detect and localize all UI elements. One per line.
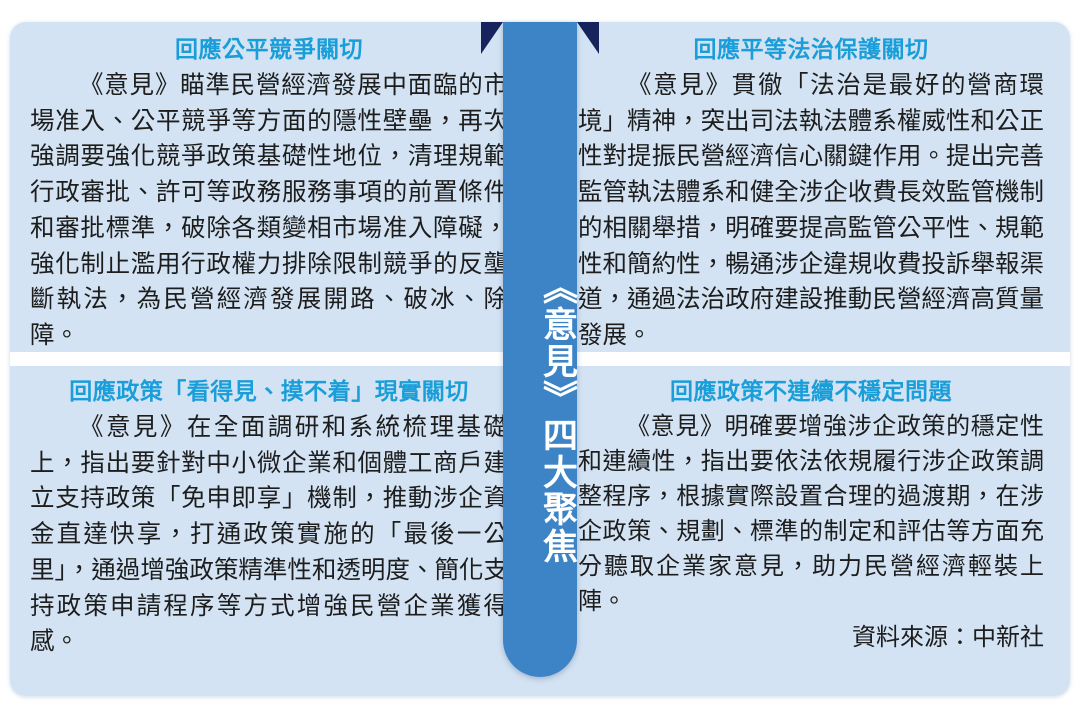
panel-top-left-heading: 回應公平競爭關切 xyxy=(30,36,508,65)
panel-bottom-right-heading: 回應政策不連續不穩定問題 xyxy=(578,378,1044,407)
ribbon-tail-left-icon xyxy=(481,22,503,54)
panel-bottom-right-content: 回應政策不連續不穩定問題 《意見》明確要增強涉企政策的穩定性和連續性，指出要依法… xyxy=(578,378,1044,655)
panel-top-right-heading: 回應平等法治保護關切 xyxy=(578,36,1044,65)
panel-top-left-content: 回應公平競爭關切 《意見》瞄準民營經濟發展中面臨的市場准入、公平競爭等方面的隱性… xyxy=(30,36,508,352)
panel-top-right-content: 回應平等法治保護關切 《意見》貫徹「法治是最好的營商環境」精神，突出司法執法體系… xyxy=(578,36,1044,352)
infographic-root: 回應公平競爭關切 《意見》瞄準民營經濟發展中面臨的市場准入、公平競爭等方面的隱性… xyxy=(0,0,1080,711)
center-ribbon: 《意見》四大聚焦 xyxy=(503,22,577,677)
panel-bottom-right-body: 《意見》明確要增強涉企政策的穩定性和連續性，指出要依法依規履行涉企政策調整程序，… xyxy=(578,409,1044,619)
panel-top-left-body: 《意見》瞄準民營經濟發展中面臨的市場准入、公平競爭等方面的隱性壁壘，再次強調要強… xyxy=(30,67,508,352)
panel-bottom-left-body: 《意見》在全面調研和系統梳理基礎上，指出要針對中小微企業和個體工商戶建立支持政策… xyxy=(30,409,508,659)
source-attribution: 資料來源：中新社 xyxy=(578,621,1044,655)
panel-top-right: 回應平等法治保護關切 《意見》貫徹「法治是最好的營商環境」精神，突出司法執法體系… xyxy=(510,22,1070,352)
panel-top-left: 回應公平競爭關切 《意見》瞄準民營經濟發展中面臨的市場准入、公平競爭等方面的隱性… xyxy=(10,22,570,352)
panel-top-right-body: 《意見》貫徹「法治是最好的營商環境」精神，突出司法執法體系權威性和公正性對提振民… xyxy=(578,67,1044,352)
panel-bottom-left: 回應政策「看得見、摸不着」現實關切 《意見》在全面調研和系統梳理基礎上，指出要針… xyxy=(10,366,570,696)
ribbon-title: 《意見》四大聚焦 xyxy=(503,207,577,627)
panel-bottom-right: 回應政策不連續不穩定問題 《意見》明確要增強涉企政策的穩定性和連續性，指出要依法… xyxy=(510,366,1070,696)
panel-bottom-left-heading: 回應政策「看得見、摸不着」現實關切 xyxy=(30,378,508,407)
ribbon-tail-right-icon xyxy=(577,22,599,54)
panel-bottom-left-content: 回應政策「看得見、摸不着」現實關切 《意見》在全面調研和系統梳理基礎上，指出要針… xyxy=(30,378,508,659)
